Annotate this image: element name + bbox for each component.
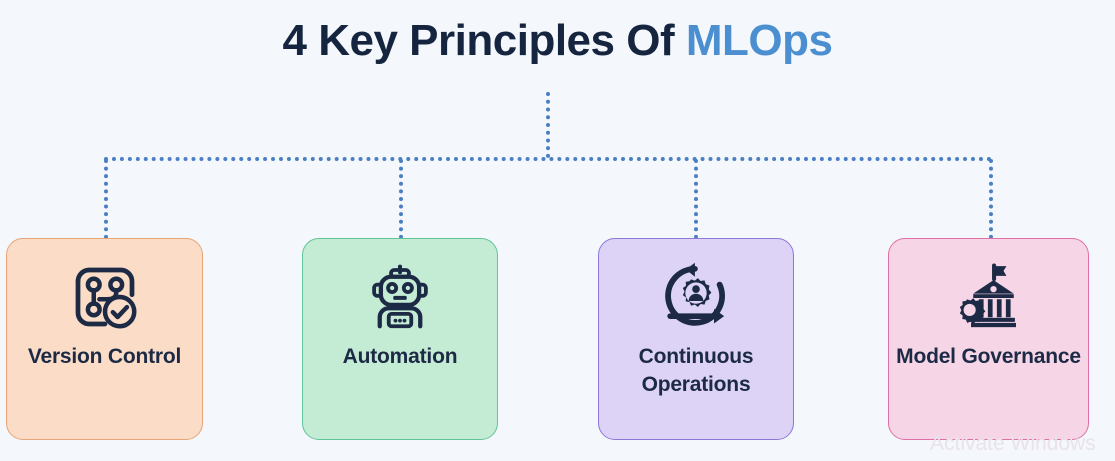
- connector-drop-3: [694, 159, 698, 239]
- card-continuous-operations[interactable]: Continuous Operations: [598, 238, 794, 440]
- card-label-version-control: Version Control: [22, 343, 187, 371]
- principle-cards: Version Control Automation: [0, 238, 1115, 443]
- continuous-operations-icon: [660, 261, 732, 333]
- card-label-continuous-operations: Continuous Operations: [599, 343, 793, 398]
- version-control-icon: [69, 261, 141, 333]
- card-model-governance[interactable]: Model Governance: [888, 238, 1089, 440]
- card-automation[interactable]: Automation: [302, 238, 498, 440]
- infographic-root: 4 Key Principles Of MLOps Version Contro…: [0, 0, 1115, 461]
- connector-stem: [546, 92, 550, 158]
- card-label-model-governance: Model Governance: [890, 343, 1087, 371]
- model-governance-icon: [953, 261, 1025, 333]
- connector-drop-4: [989, 159, 993, 239]
- connector-drop-1: [104, 159, 108, 239]
- page-title-accent: MLOps: [686, 16, 833, 65]
- page-title-main: 4 Key Principles Of: [283, 16, 686, 65]
- robot-icon: [364, 261, 436, 333]
- page-title: 4 Key Principles Of MLOps: [0, 16, 1115, 66]
- card-label-automation: Automation: [337, 343, 464, 371]
- connector-horizontal-bar: [104, 157, 992, 161]
- connector-drop-2: [399, 159, 403, 239]
- card-version-control[interactable]: Version Control: [6, 238, 203, 440]
